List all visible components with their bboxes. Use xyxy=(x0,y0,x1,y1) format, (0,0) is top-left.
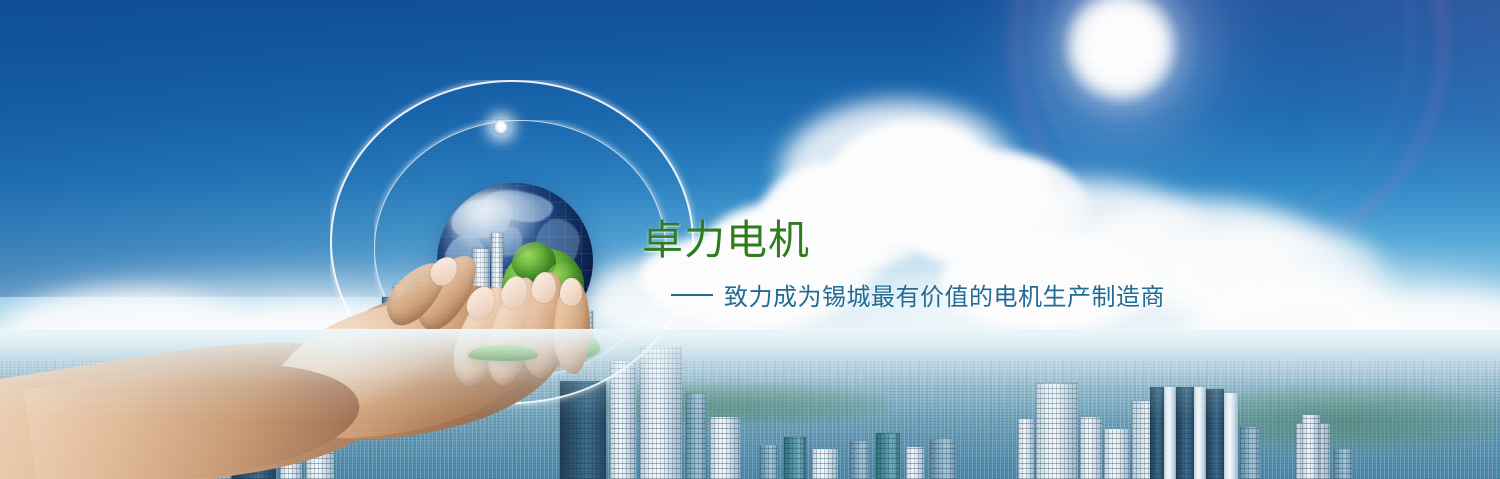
green-tree xyxy=(500,248,586,344)
subtitle-dash-icon xyxy=(671,294,713,296)
grass-sliver xyxy=(468,345,538,361)
page-title: 卓力电机 xyxy=(642,219,810,262)
hero-banner: 卓力电机 致力成为锡城最有价值的电机生产制造商 xyxy=(0,0,1500,479)
subtitle-row: 致力成为锡城最有价值的电机生产制造商 xyxy=(671,277,1165,312)
page-subtitle: 致力成为锡城最有价值的电机生产制造商 xyxy=(724,277,1165,312)
city-skyline xyxy=(0,329,1500,479)
